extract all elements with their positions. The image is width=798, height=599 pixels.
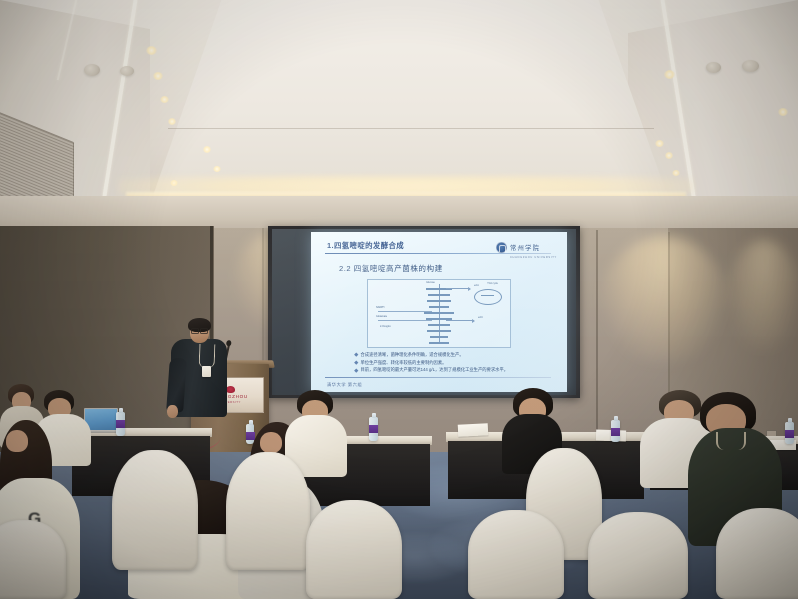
chair[interactable] <box>226 452 310 570</box>
pathway-node <box>428 294 450 296</box>
ceiling-coffer <box>150 0 670 204</box>
slide-subtitle: 2.2 四氢嘧啶高产菌株的构建 <box>339 263 443 274</box>
ceiling-speaker-icon <box>742 60 759 72</box>
speaker-lanyard <box>199 344 216 369</box>
pathway-node <box>427 300 451 302</box>
bullet-text: 合成途径清晰，菌种理化条件明确，适合规模化生产。 <box>361 352 464 358</box>
pathway-node <box>430 336 448 338</box>
downlight-icon <box>153 72 163 80</box>
chair[interactable] <box>716 508 798 599</box>
downlight-icon <box>664 70 675 79</box>
chair[interactable] <box>0 520 66 599</box>
paper-sheet <box>458 423 489 437</box>
pathway-side-label: 2-Oxoglut. <box>380 325 391 328</box>
downlight-icon <box>213 166 221 172</box>
downlight-icon <box>168 118 176 125</box>
university-name: 常州学院 <box>510 245 540 252</box>
pathway-node <box>429 306 449 308</box>
bullet-text: 单位生产强度、转化率较低的主要制约因素。 <box>361 360 447 366</box>
presentation-slide[interactable]: 1.四氢嘧啶的发酵合成 常州学院 CHANGZHOU UNIVERSITY 2.… <box>311 232 567 392</box>
list-item: 目前，四氢嘧啶的最大产量可达144 g/L，达到了规模化工业生产的要求水平。 <box>355 367 555 373</box>
pathway-side-label: NADPH <box>376 306 384 309</box>
water-bottle[interactable] <box>785 422 794 444</box>
wall-joint <box>596 230 598 440</box>
speaker-hand <box>167 405 178 418</box>
ceiling-seam <box>168 128 654 129</box>
pathway-arrow <box>446 320 474 321</box>
ceiling-speaker-icon <box>120 66 134 76</box>
pathway-enzyme-label: ectC <box>478 316 483 319</box>
bullet-text: 目前，四氢嘧啶的最大产量可达144 g/L，达到了规模化工业生产的要求水平。 <box>361 367 509 373</box>
chair[interactable] <box>468 510 564 599</box>
chair[interactable] <box>306 500 402 599</box>
pathway-node <box>429 342 449 344</box>
speaker-badge <box>202 366 211 377</box>
downlight-icon <box>203 146 211 153</box>
pathway-node <box>424 312 454 314</box>
pathway-node <box>428 324 450 326</box>
chair[interactable] <box>112 450 198 570</box>
pathway-side-label: Glutamate <box>376 315 387 318</box>
pathway-diagram: Glucose NADPH Glutamate 2-Oxoglut. ectA … <box>367 279 511 348</box>
bullet-marker-icon <box>354 360 358 364</box>
slide-title: 1.四氢嘧啶的发酵合成 <box>327 240 404 251</box>
bullet-marker-icon <box>354 368 358 372</box>
water-bottle[interactable] <box>369 417 378 441</box>
university-subname: CHANGZHOU UNIVERSITY <box>510 256 557 259</box>
list-item: 单位生产强度、转化率较低的主要制约因素。 <box>355 360 555 366</box>
downlight-icon <box>160 96 169 103</box>
audience-head <box>260 432 282 453</box>
downlight-icon <box>778 108 788 116</box>
smoke-detector-icon <box>84 64 100 76</box>
university-crest-icon <box>496 242 507 253</box>
pathway-spine <box>439 284 440 343</box>
water-bottle[interactable] <box>116 412 125 436</box>
slide-bullet-list: 合成途径清晰，菌种理化条件明确，适合规模化生产。 单位生产强度、转化率较低的主要… <box>355 352 555 375</box>
slide-footer: 清华大学 第六组 <box>327 382 362 388</box>
tca-cycle-shape <box>474 289 502 305</box>
university-logo: 常州学院 CHANGZHOU UNIVERSITY <box>496 237 557 259</box>
audience-lanyard <box>716 432 746 450</box>
audience-head <box>6 430 28 452</box>
ceiling <box>0 0 798 232</box>
bullet-marker-icon <box>354 353 358 357</box>
pathway-node <box>427 330 451 332</box>
pathway-branch <box>378 320 432 321</box>
slide-footer-rule <box>325 377 551 378</box>
pathway-arrow <box>446 288 470 289</box>
tca-cycle-label: TCA cycle <box>487 282 498 285</box>
downlight-icon <box>655 140 664 147</box>
speaker-glasses-icon <box>191 328 208 332</box>
pathway-enzyme-label: ectA <box>474 284 479 287</box>
downlight-icon <box>665 152 673 159</box>
pathway-branch <box>378 311 432 312</box>
smoke-detector-icon <box>706 62 721 73</box>
downlight-icon <box>146 46 157 55</box>
conference-room-photo: 1.四氢嘧啶的发酵合成 常州学院 CHANGZHOU UNIVERSITY 2.… <box>0 0 798 599</box>
pathway-node-label: Glucose <box>426 281 435 284</box>
list-item: 合成途径清晰，菌种理化条件明确，适合规模化生产。 <box>355 352 555 358</box>
chair[interactable] <box>588 512 688 599</box>
